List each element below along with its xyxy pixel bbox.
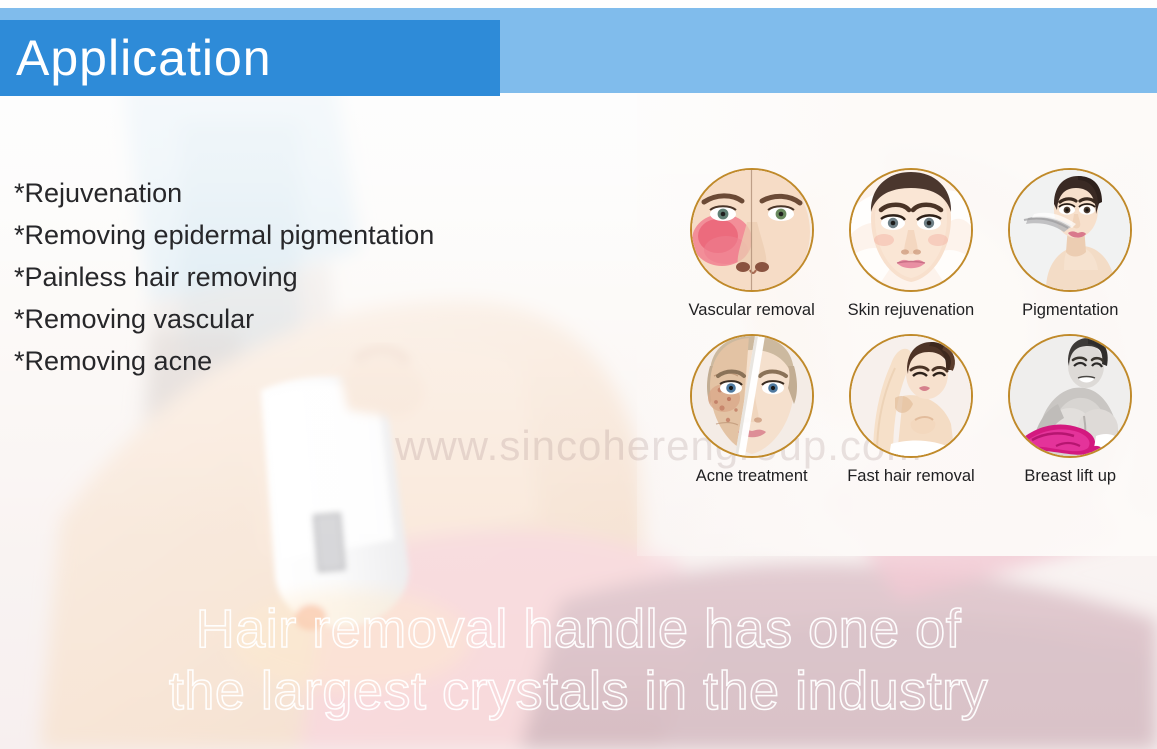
application-cell-skin-rejuvenation: Skin rejuvenation: [831, 168, 990, 320]
application-label: Vascular removal: [689, 301, 815, 320]
application-cell-vascular-removal: Vascular removal: [672, 168, 831, 320]
application-cell-breast-lift-up: Breast lift up: [991, 334, 1150, 486]
application-label: Breast lift up: [1024, 467, 1116, 486]
application-label: Pigmentation: [1022, 301, 1118, 320]
application-cell-acne-treatment: Acne treatment: [672, 334, 831, 486]
application-slide: www.sincoherengroup.com Application *Rej…: [0, 0, 1157, 749]
header-tab: Application: [0, 20, 500, 96]
application-cell-fast-hair-removal: Fast hair removal: [831, 334, 990, 486]
feature-item: *Removing epidermal pigmentation: [14, 214, 574, 256]
feature-list: *Rejuvenation *Removing epidermal pigmen…: [14, 172, 574, 382]
feature-item: *Removing vascular: [14, 298, 574, 340]
feature-item: *Rejuvenation: [14, 172, 574, 214]
page-title: Application: [0, 33, 272, 83]
header-band: Application: [0, 8, 1157, 93]
application-label: Skin rejuvenation: [848, 301, 975, 320]
feature-item: *Painless hair removing: [14, 256, 574, 298]
woman-face-glow-photo: [849, 168, 973, 292]
face-acne-before-after-photo: [690, 334, 814, 458]
application-grid: Vascular removal: [672, 168, 1150, 500]
application-label: Fast hair removal: [847, 467, 974, 486]
feature-item: *Removing acne: [14, 340, 574, 382]
woman-breast-lift-photo: [1008, 334, 1132, 458]
application-cell-pigmentation: Pigmentation: [991, 168, 1150, 320]
face-redness-before-after-photo: [690, 168, 814, 292]
woman-shoulder-pigment-photo: [1008, 168, 1132, 292]
application-label: Acne treatment: [696, 467, 808, 486]
woman-raised-arm-underarm-photo: [849, 334, 973, 458]
